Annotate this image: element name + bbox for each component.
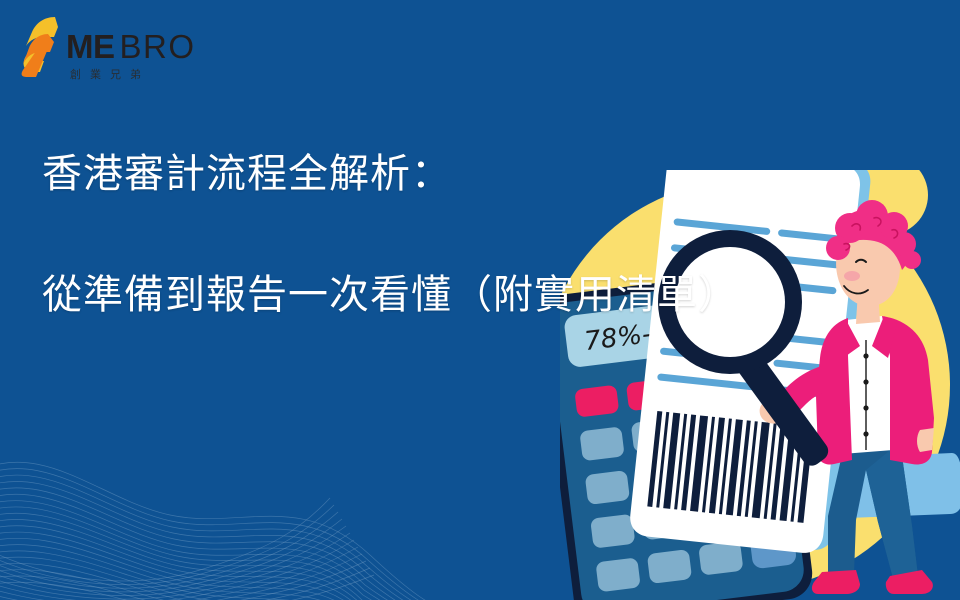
logo-word-primary: ME (66, 30, 115, 63)
headline-block: 香港審計流程全解析： 從準備到報告一次看懂（附實用清單） (42, 150, 742, 320)
logo-wordmark: ME BRO (66, 30, 196, 63)
banner-root: ME BRO 創業兄弟 香港審計流程全解析： 從準備到報告一次看懂（附實用清單） (0, 0, 960, 600)
logo-word-secondary: BRO (120, 30, 196, 63)
brand-logo[interactable]: ME BRO 創業兄弟 (14, 14, 164, 80)
wave-mesh-pattern (0, 380, 450, 600)
logo-subtitle-cn: 創業兄弟 (70, 66, 150, 82)
headline-line-1: 香港審計流程全解析： (42, 150, 742, 199)
headline-line-2: 從準備到報告一次看懂（附實用清單） (42, 271, 742, 320)
